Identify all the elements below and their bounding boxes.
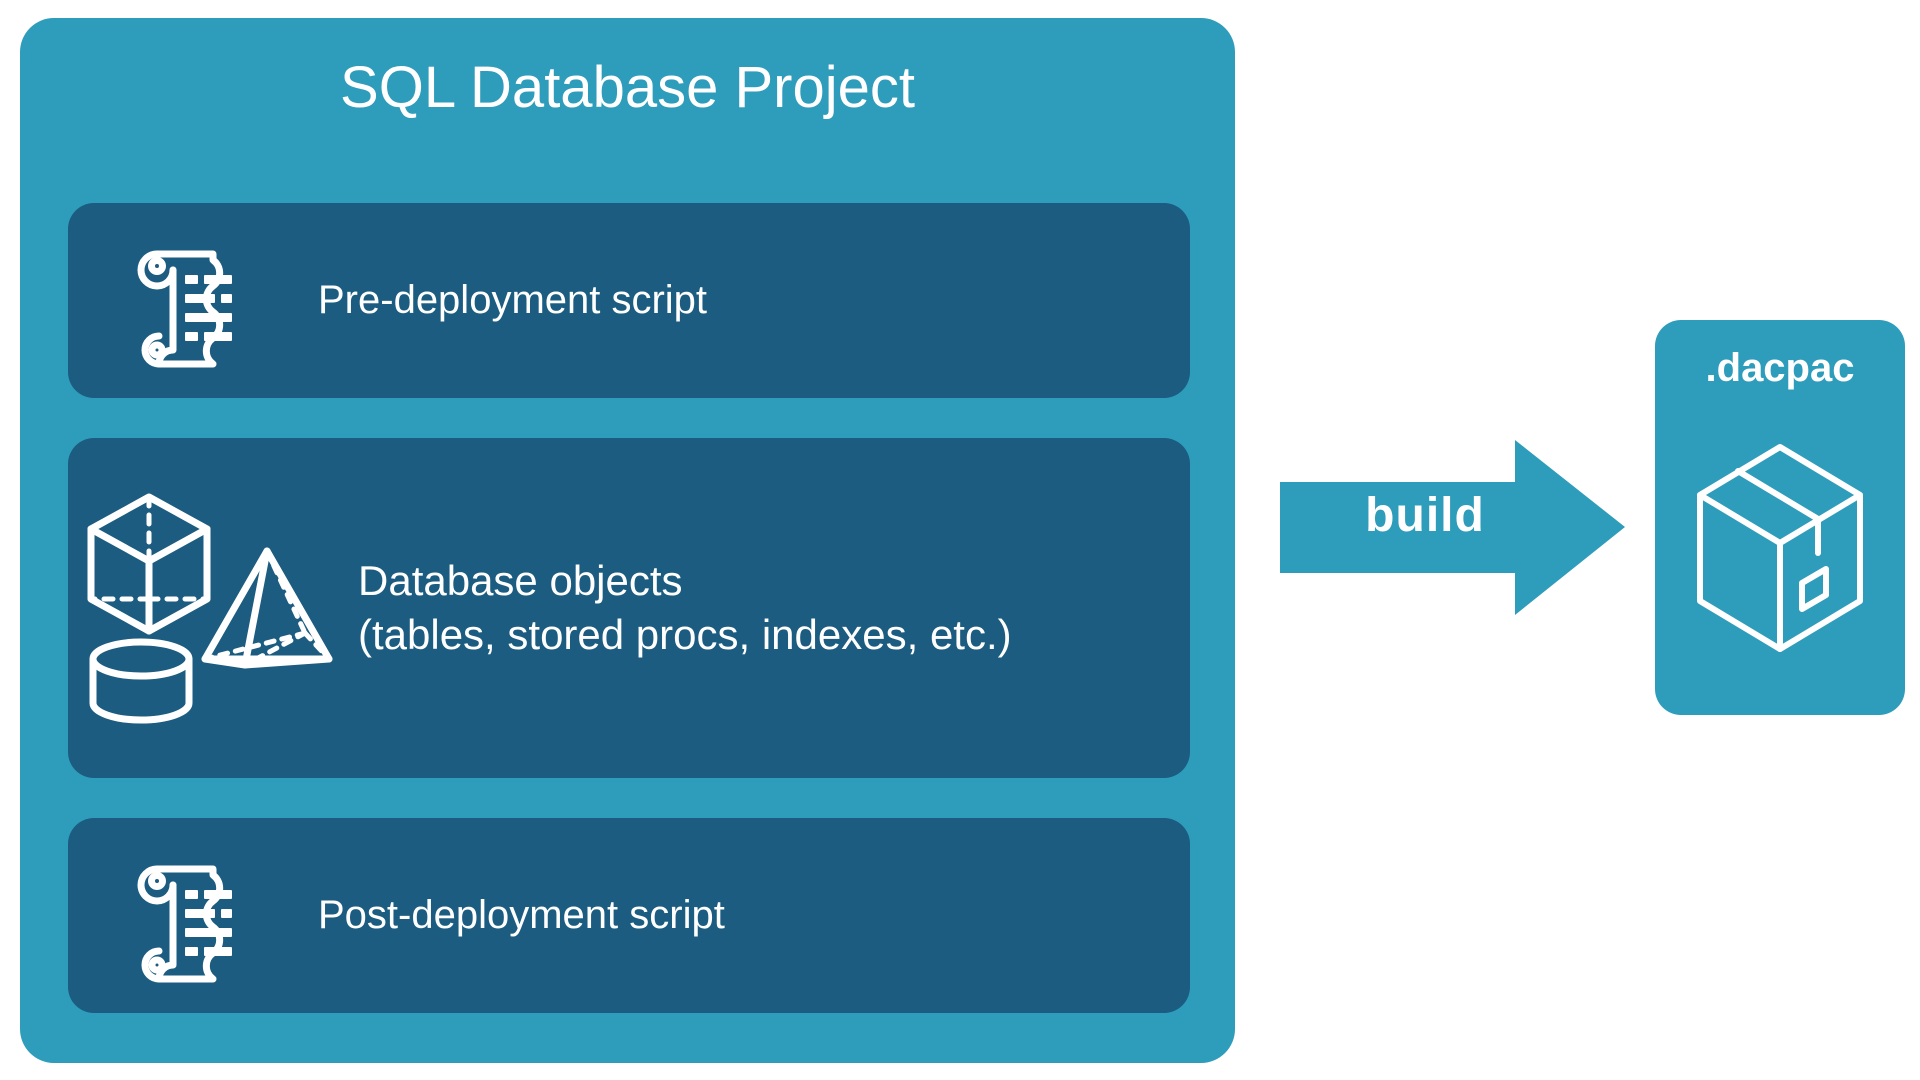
card-post-deployment-script[interactable]: Post-deployment script: [68, 818, 1190, 1013]
pyramid-icon: [205, 551, 329, 665]
card-label-pre-deployment: Pre-deployment script: [318, 275, 707, 326]
dacpac-label: .dacpac: [1655, 346, 1905, 391]
cylinder-icon: [93, 642, 189, 720]
sql-database-project-panel: SQL Database Project: [20, 18, 1235, 1063]
dacpac-output-panel: .dacpac: [1655, 320, 1905, 715]
card-database-objects[interactable]: Database objects (tables, stored procs, …: [68, 438, 1190, 778]
card-pre-deployment-script[interactable]: Pre-deployment script: [68, 203, 1190, 398]
scroll-icon: [68, 232, 318, 370]
page-title: SQL Database Project: [20, 56, 1235, 120]
build-label: build: [1300, 488, 1550, 543]
card-label-database-objects: Database objects (tables, stored procs, …: [358, 554, 1012, 662]
card-label-post-deployment: Post-deployment script: [318, 890, 725, 941]
cube-icon: [91, 497, 207, 631]
package-box-icon: [1685, 415, 1875, 680]
shapes-icon: [68, 483, 358, 733]
scroll-icon: [68, 847, 318, 985]
diagram-canvas: SQL Database Project: [0, 0, 1920, 1080]
